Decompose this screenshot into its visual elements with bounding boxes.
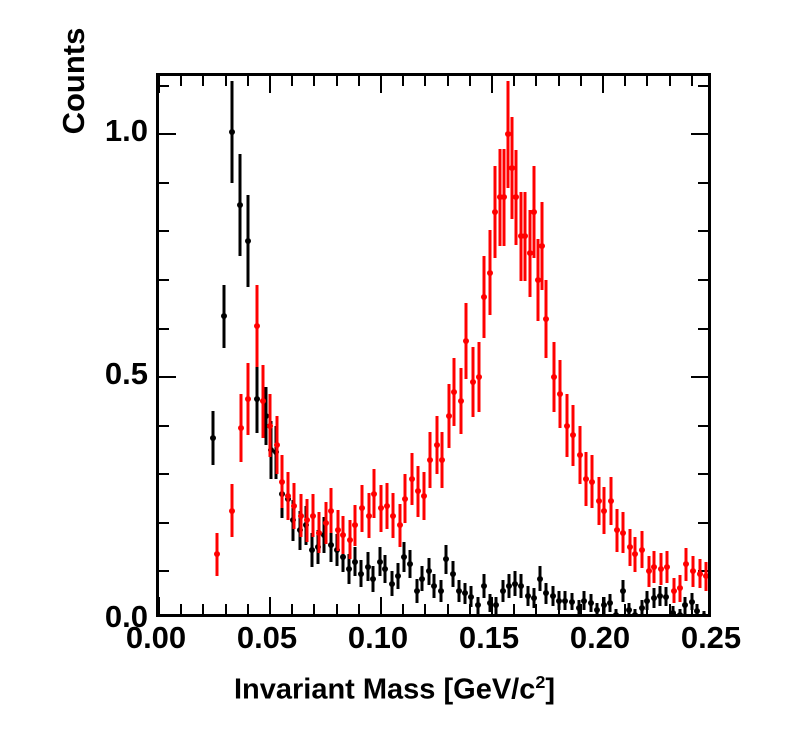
data-point bbox=[682, 602, 688, 608]
x-tick-label: 0.10 bbox=[348, 620, 408, 656]
x-tick-top bbox=[558, 76, 560, 86]
y-tick-right bbox=[698, 279, 708, 281]
y-tick-right bbox=[698, 230, 708, 232]
y-tick-left bbox=[159, 182, 169, 184]
x-tick-label: 0.25 bbox=[681, 620, 741, 656]
x-tick-top bbox=[269, 76, 271, 93]
data-point bbox=[543, 316, 549, 322]
data-point bbox=[304, 517, 310, 523]
data-point bbox=[626, 607, 632, 613]
data-point bbox=[677, 585, 683, 591]
y-tick-right bbox=[691, 376, 708, 378]
x-tick-bottom bbox=[225, 604, 227, 614]
data-point bbox=[607, 600, 613, 606]
data-point bbox=[371, 491, 377, 497]
x-tick-bottom bbox=[447, 604, 449, 614]
data-point bbox=[627, 544, 633, 550]
x-tick-bottom bbox=[291, 604, 293, 614]
data-point bbox=[689, 599, 695, 605]
data-point bbox=[419, 576, 425, 582]
data-point bbox=[551, 374, 557, 380]
data-point bbox=[389, 581, 395, 587]
data-point bbox=[588, 600, 594, 606]
data-point bbox=[352, 559, 358, 565]
x-tick-top bbox=[358, 76, 360, 86]
x-tick-top bbox=[491, 76, 493, 93]
data-point bbox=[254, 323, 260, 329]
x-tick-bottom bbox=[513, 604, 515, 614]
data-point bbox=[390, 513, 396, 519]
data-point bbox=[525, 593, 531, 599]
data-point bbox=[245, 396, 251, 402]
data-point bbox=[608, 498, 614, 504]
data-point bbox=[366, 513, 372, 519]
data-point bbox=[370, 576, 376, 582]
plot-area bbox=[159, 76, 708, 614]
data-point bbox=[359, 505, 365, 511]
data-point bbox=[481, 294, 487, 300]
data-point bbox=[407, 561, 413, 567]
data-point bbox=[601, 508, 607, 514]
data-point bbox=[620, 530, 626, 536]
x-tick-bottom bbox=[247, 604, 249, 614]
data-point bbox=[570, 432, 576, 438]
x-tick-top bbox=[402, 76, 404, 86]
x-tick-top bbox=[225, 76, 227, 86]
x-tick-top bbox=[291, 76, 293, 86]
x-axis-title: Invariant Mass [GeV/c2] bbox=[0, 672, 789, 707]
data-point bbox=[415, 488, 421, 494]
y-tick-left bbox=[159, 85, 169, 87]
x-tick-bottom bbox=[358, 604, 360, 614]
data-point bbox=[697, 571, 703, 577]
x-tick-bottom bbox=[424, 604, 426, 614]
data-point bbox=[594, 607, 600, 613]
x-tick-top bbox=[580, 76, 582, 86]
data-point bbox=[537, 576, 543, 582]
data-point bbox=[328, 542, 334, 548]
y-tick-left bbox=[159, 376, 176, 378]
data-point bbox=[664, 564, 670, 570]
data-point bbox=[426, 568, 432, 574]
data-point bbox=[214, 551, 220, 557]
y-tick-left bbox=[159, 522, 169, 524]
data-point bbox=[347, 537, 353, 543]
chart-root: Counts 0.000.050.100.150.200.250.00.51.0… bbox=[0, 0, 789, 750]
data-point bbox=[446, 413, 452, 419]
data-point bbox=[434, 442, 440, 448]
x-tick-top bbox=[313, 76, 315, 86]
x-tick-bottom bbox=[380, 597, 382, 614]
x-tick-top bbox=[447, 76, 449, 86]
data-point bbox=[439, 457, 445, 463]
data-point bbox=[531, 595, 537, 601]
data-point bbox=[451, 389, 457, 395]
x-tick-top bbox=[691, 76, 693, 86]
data-point bbox=[316, 530, 322, 536]
x-tick-label: 0.20 bbox=[570, 620, 630, 656]
y-tick-left bbox=[159, 279, 169, 281]
data-point bbox=[310, 513, 316, 519]
plot-frame bbox=[156, 73, 711, 617]
y-tick-left bbox=[159, 473, 169, 475]
x-tick-top bbox=[513, 76, 515, 86]
y-tick-right bbox=[698, 473, 708, 475]
x-tick-bottom bbox=[269, 597, 271, 614]
x-tick-top bbox=[646, 76, 648, 86]
data-point bbox=[254, 396, 260, 402]
data-point bbox=[476, 374, 482, 380]
x-tick-top bbox=[202, 76, 204, 86]
data-point bbox=[323, 520, 329, 526]
y-tick-label: 0.0 bbox=[0, 599, 148, 635]
x-tick-top bbox=[535, 76, 537, 86]
data-point bbox=[658, 566, 664, 572]
y-tick-right bbox=[698, 182, 708, 184]
x-tick-top bbox=[469, 76, 471, 86]
data-point bbox=[221, 313, 227, 319]
data-point bbox=[562, 598, 568, 604]
data-point bbox=[550, 593, 556, 599]
x-tick-label: 0.05 bbox=[237, 620, 297, 656]
x-tick-label: 0.15 bbox=[459, 620, 519, 656]
y-tick-left bbox=[159, 570, 169, 572]
x-tick-top bbox=[669, 76, 671, 86]
data-point bbox=[596, 498, 602, 504]
data-point bbox=[518, 583, 524, 589]
data-point bbox=[501, 194, 507, 200]
x-tick-bottom bbox=[535, 604, 537, 614]
data-point bbox=[340, 532, 346, 538]
data-point bbox=[657, 593, 663, 599]
data-point bbox=[475, 602, 481, 608]
data-point bbox=[377, 559, 383, 565]
y-tick-left bbox=[159, 133, 176, 135]
data-point bbox=[382, 566, 388, 572]
data-point bbox=[677, 612, 683, 614]
y-tick-label: 0.5 bbox=[0, 356, 148, 392]
x-tick-bottom bbox=[402, 604, 404, 614]
data-point bbox=[421, 493, 427, 499]
data-point bbox=[340, 554, 346, 560]
x-axis-title-tail: ] bbox=[545, 674, 555, 706]
y-tick-right bbox=[698, 425, 708, 427]
data-point bbox=[581, 598, 587, 604]
y-tick-label: 1.0 bbox=[0, 113, 148, 149]
x-tick-top bbox=[624, 76, 626, 86]
data-point bbox=[487, 270, 493, 276]
data-point bbox=[395, 573, 401, 579]
x-tick-bottom bbox=[180, 604, 182, 614]
data-point bbox=[401, 554, 407, 560]
data-point bbox=[358, 571, 364, 577]
data-point bbox=[506, 583, 512, 589]
data-point bbox=[279, 479, 285, 485]
data-point bbox=[468, 594, 474, 600]
data-point bbox=[267, 423, 273, 429]
x-tick-top bbox=[380, 76, 382, 93]
data-point bbox=[703, 573, 708, 579]
data-point bbox=[470, 379, 476, 385]
y-tick-right bbox=[698, 522, 708, 524]
data-point bbox=[556, 598, 562, 604]
x-tick-top bbox=[424, 76, 426, 86]
data-point bbox=[613, 612, 619, 614]
data-point bbox=[620, 588, 626, 594]
data-point bbox=[639, 547, 645, 553]
x-axis-title-base: Invariant Mass [GeV/c bbox=[234, 674, 535, 706]
data-point bbox=[229, 508, 235, 514]
data-point bbox=[431, 583, 437, 589]
data-point bbox=[365, 564, 371, 570]
y-tick-left bbox=[159, 328, 169, 330]
data-point bbox=[539, 243, 545, 249]
data-point bbox=[298, 513, 304, 519]
y-tick-right bbox=[691, 133, 708, 135]
data-point bbox=[237, 202, 243, 208]
y-tick-left bbox=[159, 425, 169, 427]
data-point bbox=[397, 522, 403, 528]
data-point bbox=[210, 435, 216, 441]
data-point bbox=[384, 503, 390, 509]
data-point bbox=[632, 551, 638, 557]
data-point bbox=[639, 605, 645, 611]
data-point bbox=[683, 561, 689, 567]
y-tick-right bbox=[698, 85, 708, 87]
x-axis-title-superscript: 2 bbox=[535, 672, 545, 692]
data-point bbox=[576, 605, 582, 611]
data-point bbox=[409, 476, 415, 482]
data-point bbox=[644, 598, 650, 604]
data-point bbox=[458, 398, 464, 404]
data-point bbox=[632, 612, 638, 614]
data-point bbox=[701, 613, 707, 614]
data-point bbox=[646, 568, 652, 574]
y-tick-right bbox=[698, 328, 708, 330]
data-point bbox=[328, 508, 334, 514]
x-tick-top bbox=[247, 76, 249, 86]
data-point bbox=[352, 522, 358, 528]
data-point bbox=[690, 568, 696, 574]
y-tick-left bbox=[159, 230, 169, 232]
data-point bbox=[670, 610, 676, 614]
data-point bbox=[291, 503, 297, 509]
data-point bbox=[245, 238, 251, 244]
data-point bbox=[450, 571, 456, 577]
data-point bbox=[260, 398, 266, 404]
data-point bbox=[557, 391, 563, 397]
data-point bbox=[335, 527, 341, 533]
data-point bbox=[402, 496, 408, 502]
data-point bbox=[427, 457, 433, 463]
data-point bbox=[487, 600, 493, 606]
data-point bbox=[481, 583, 487, 589]
data-point bbox=[531, 209, 537, 215]
x-tick-bottom bbox=[159, 597, 160, 614]
data-point bbox=[543, 590, 549, 596]
data-point bbox=[238, 425, 244, 431]
data-point bbox=[493, 602, 499, 608]
data-point bbox=[651, 564, 657, 570]
x-tick-top bbox=[180, 76, 182, 86]
data-point bbox=[694, 608, 700, 614]
data-point bbox=[443, 556, 449, 562]
data-point bbox=[564, 423, 570, 429]
x-tick-top bbox=[602, 76, 604, 93]
x-tick-bottom bbox=[202, 604, 204, 614]
data-point bbox=[569, 599, 575, 605]
x-tick-bottom bbox=[336, 604, 338, 614]
data-point bbox=[346, 566, 352, 572]
data-point bbox=[285, 493, 291, 499]
x-tick-bottom bbox=[313, 604, 315, 614]
data-point bbox=[589, 479, 595, 485]
data-point bbox=[577, 452, 583, 458]
data-point bbox=[414, 588, 420, 594]
data-point bbox=[463, 338, 469, 344]
data-point bbox=[663, 594, 669, 600]
data-point bbox=[274, 442, 280, 448]
data-point bbox=[500, 588, 506, 594]
data-point bbox=[456, 588, 462, 594]
data-point bbox=[438, 588, 444, 594]
data-point bbox=[229, 129, 235, 135]
x-tick-top bbox=[336, 76, 338, 86]
